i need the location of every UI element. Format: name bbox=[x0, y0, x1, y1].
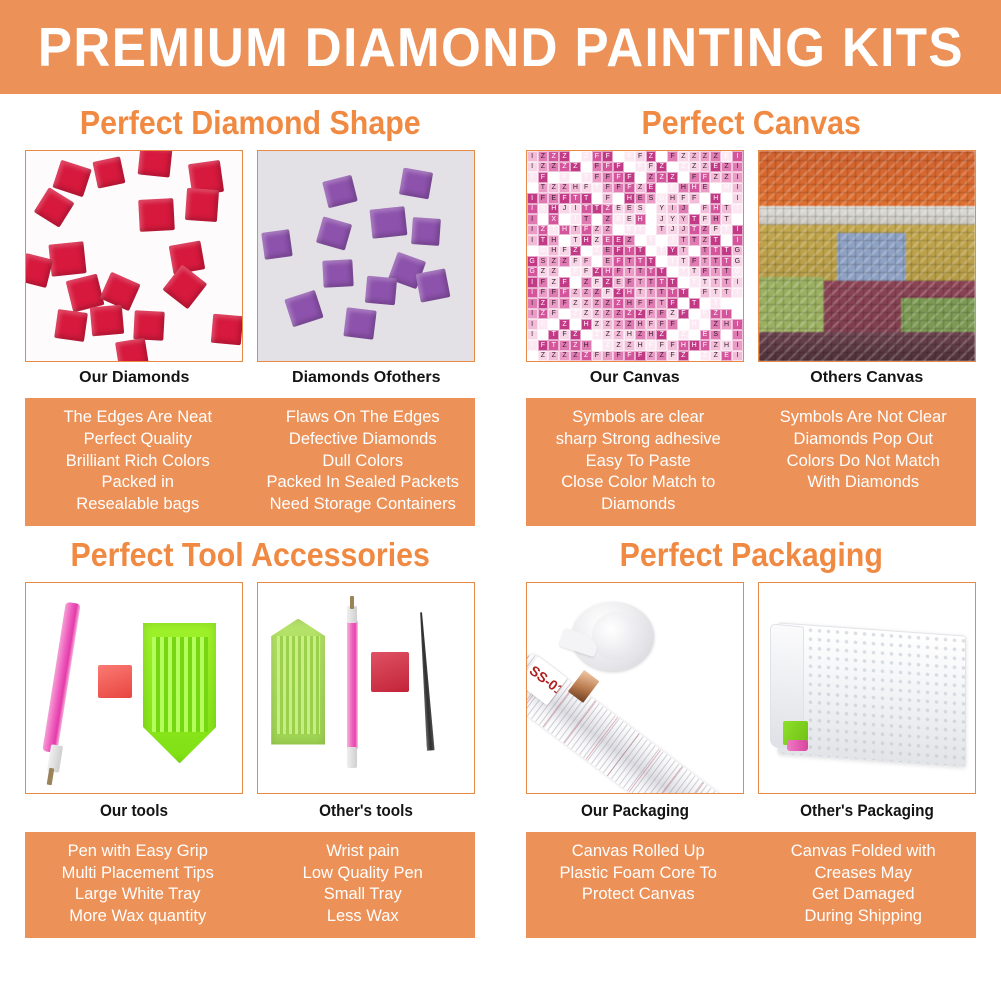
canvas-symbol-cell: T bbox=[678, 267, 689, 278]
canvas-symbol-cell: H bbox=[721, 183, 732, 194]
canvas-symbol-cell: F bbox=[613, 256, 624, 267]
canvas-symbol-cell: H bbox=[678, 183, 689, 194]
canvas-symbol-cell: G bbox=[527, 267, 538, 278]
canvas-symbol-cell: T bbox=[700, 256, 711, 267]
canvas-symbol-cell: I bbox=[732, 172, 743, 183]
image-our-tools bbox=[25, 582, 243, 794]
image-pair: IZZZZZFFFFFZZFZZZZEIIZZZZZFFFFFFZZZZZEZI… bbox=[501, 150, 1001, 362]
canvas-symbol-cell: Z bbox=[538, 225, 549, 236]
canvas-symbol-cell: F bbox=[667, 351, 678, 362]
canvas-symbol-cell: T bbox=[700, 277, 711, 288]
canvas-symbol-cell: Z bbox=[592, 298, 603, 309]
canvas-symbol-cell: G bbox=[538, 246, 549, 257]
feature-line: Wrist pain bbox=[253, 841, 472, 863]
canvas-symbol-cell: T bbox=[689, 267, 700, 278]
canvas-symbol-cell: Z bbox=[732, 309, 743, 320]
canvas-symbol-cell: E bbox=[700, 330, 711, 341]
canvas-symbol-cell: T bbox=[689, 214, 700, 225]
feature-line: Large White Tray bbox=[28, 884, 247, 906]
canvas-symbol-cell: H bbox=[624, 288, 635, 299]
canvas-symbol-cell: T bbox=[646, 235, 657, 246]
caption-other-packaging: Other's Packaging bbox=[769, 801, 965, 821]
canvas-symbol-cell: Z bbox=[538, 151, 549, 162]
canvas-symbol-cell: T bbox=[689, 288, 700, 299]
canvas-symbol-cell: E bbox=[613, 214, 624, 225]
canvas-symbol-cell: T bbox=[592, 204, 603, 215]
section-tool-accessories: Perfect Tool Accessories bbox=[0, 526, 501, 938]
caption-other-tools: Other's tools bbox=[268, 801, 464, 821]
feature-col-ours: The Edges Are NeatPerfect QualityBrillia… bbox=[25, 407, 250, 516]
canvas-symbol-cell: Z bbox=[602, 309, 613, 320]
canvas-symbol-cell: Z bbox=[592, 256, 603, 267]
canvas-symbol-cell: T bbox=[592, 193, 603, 204]
canvas-symbol-cell: T bbox=[656, 267, 667, 278]
canvas-symbol-cell: E bbox=[710, 162, 721, 173]
canvas-symbol-cell: H bbox=[710, 204, 721, 215]
canvas-symbol-cell: F bbox=[700, 214, 711, 225]
canvas-symbol-cell: I bbox=[732, 330, 743, 341]
canvas-symbol-cell: T bbox=[678, 246, 689, 257]
feature-line: Defective Diamonds bbox=[253, 429, 472, 451]
canvas-symbol-cell: Z bbox=[656, 351, 667, 362]
canvas-symbol-cell: T bbox=[689, 204, 700, 215]
feature-line: Symbols Are Not Clear bbox=[754, 407, 973, 429]
canvas-symbol-cell: H bbox=[721, 193, 732, 204]
canvas-symbol-cell: T bbox=[721, 235, 732, 246]
section-title: Perfect Diamond Shape bbox=[20, 94, 480, 150]
canvas-symbol-cell: G bbox=[656, 193, 667, 204]
canvas-symbol-cell: I bbox=[732, 151, 743, 162]
canvas-symbol-cell: I bbox=[559, 214, 570, 225]
feature-line: With Diamonds bbox=[754, 472, 973, 494]
canvas-symbol-cell: G bbox=[732, 256, 743, 267]
feature-line: Creases May bbox=[754, 863, 973, 885]
canvas-symbol-cell: Z bbox=[646, 172, 657, 183]
canvas-symbol-cell: H bbox=[689, 246, 700, 257]
canvas-symbol-cell: T bbox=[689, 225, 700, 236]
canvas-symbol-cell: Z bbox=[624, 340, 635, 351]
canvas-symbol-cell: Z bbox=[624, 319, 635, 330]
canvas-symbol-cell: F bbox=[538, 277, 549, 288]
feature-line: Canvas Folded with bbox=[754, 841, 973, 863]
canvas-symbol-cell: T bbox=[721, 288, 732, 299]
canvas-symbol-cell: I bbox=[527, 204, 538, 215]
canvas-symbol-cell: J bbox=[656, 235, 667, 246]
feature-line: Low Quality Pen bbox=[253, 863, 472, 885]
feature-line: Dull Colors bbox=[253, 451, 472, 473]
canvas-symbol-cell: H bbox=[624, 330, 635, 341]
feature-panel-packaging: Canvas Rolled UpPlastic Foam Core ToProt… bbox=[526, 832, 976, 938]
feature-line: Brilliant Rich Colors bbox=[28, 451, 247, 473]
canvas-symbol-cell: F bbox=[538, 288, 549, 299]
canvas-symbol-cell: Z bbox=[678, 172, 689, 183]
canvas-symbol-cell: T bbox=[710, 298, 721, 309]
canvas-symbol-cell: H bbox=[710, 193, 721, 204]
canvas-symbol-cell: T bbox=[570, 193, 581, 204]
canvas-symbol-cell: T bbox=[646, 256, 657, 267]
image-pair bbox=[0, 150, 501, 362]
canvas-symbol-cell: F bbox=[559, 267, 570, 278]
canvas-symbol-cell: H bbox=[678, 319, 689, 330]
canvas-symbol-cell: Z bbox=[689, 151, 700, 162]
feature-line: Colors Do Not Match bbox=[754, 451, 973, 473]
feature-line: Pen with Easy Grip bbox=[28, 841, 247, 863]
canvas-symbol-cell: Z bbox=[602, 225, 613, 236]
canvas-symbol-cell: I bbox=[527, 298, 538, 309]
section-title: Perfect Tool Accessories bbox=[20, 526, 480, 582]
canvas-symbol-cell: Z bbox=[559, 340, 570, 351]
canvas-symbol-cell: T bbox=[581, 214, 592, 225]
feature-col-ours: Pen with Easy GripMulti Placement TipsLa… bbox=[25, 841, 250, 928]
canvas-symbol-cell: Z bbox=[592, 309, 603, 320]
canvas-symbol-cell: Z bbox=[602, 277, 613, 288]
canvas-symbol-cell: F bbox=[559, 298, 570, 309]
canvas-symbol-cell: Z bbox=[592, 340, 603, 351]
canvas-symbol-cell: Z bbox=[710, 309, 721, 320]
image-our-diamonds bbox=[25, 150, 243, 362]
our-tools-photo bbox=[26, 583, 242, 793]
canvas-symbol-cell: F bbox=[581, 183, 592, 194]
canvas-symbol-cell: F bbox=[700, 172, 711, 183]
feature-panel-diamond-shape: The Edges Are NeatPerfect QualityBrillia… bbox=[25, 398, 475, 526]
canvas-symbol-cell: E bbox=[721, 351, 732, 362]
canvas-symbol-cell: E bbox=[635, 193, 646, 204]
symbol-canvas-grid: IZZZZZFFFFFZZFZZZZEIIZZZZZFFFFFFZZZZZEZI… bbox=[527, 151, 743, 361]
canvas-symbol-cell: Z bbox=[635, 309, 646, 320]
canvas-symbol-cell: Z bbox=[678, 151, 689, 162]
feature-line: Symbols are clear bbox=[529, 407, 748, 429]
canvas-symbol-cell: F bbox=[689, 193, 700, 204]
caption-our-canvas: Our Canvas bbox=[526, 369, 744, 387]
purple-diamonds-photo bbox=[258, 151, 474, 361]
canvas-symbol-cell: T bbox=[710, 246, 721, 257]
canvas-symbol-cell: H bbox=[548, 246, 559, 257]
canvas-symbol-cell: F bbox=[667, 151, 678, 162]
canvas-symbol-cell: I bbox=[732, 277, 743, 288]
canvas-symbol-cell: F bbox=[635, 151, 646, 162]
canvas-symbol-cell: Z bbox=[538, 298, 549, 309]
canvas-symbol-cell: T bbox=[581, 193, 592, 204]
canvas-symbol-cell: F bbox=[624, 172, 635, 183]
canvas-symbol-cell: F bbox=[710, 225, 721, 236]
canvas-symbol-cell: F bbox=[700, 267, 711, 278]
caption-others-canvas: Others Canvas bbox=[758, 369, 976, 387]
section-packaging: Perfect Packaging SS-011 bbox=[501, 526, 1001, 938]
image-other-tools bbox=[257, 582, 475, 794]
caption-pair: Our Packaging Other's Packaging bbox=[501, 801, 1001, 821]
canvas-symbol-cell: Z bbox=[646, 151, 657, 162]
feature-line: Diamonds Pop Out bbox=[754, 429, 973, 451]
canvas-symbol-cell: H bbox=[635, 319, 646, 330]
canvas-symbol-cell: Z bbox=[548, 256, 559, 267]
section-row-2: Perfect Tool Accessories bbox=[0, 526, 1001, 938]
canvas-symbol-cell: Z bbox=[581, 298, 592, 309]
canvas-symbol-cell: I bbox=[527, 309, 538, 320]
canvas-symbol-cell: H bbox=[635, 340, 646, 351]
canvas-symbol-cell: I bbox=[732, 183, 743, 194]
canvas-symbol-cell: S bbox=[710, 330, 721, 341]
canvas-symbol-cell: Z bbox=[602, 298, 613, 309]
canvas-symbol-cell: Z bbox=[646, 351, 657, 362]
canvas-symbol-cell: F bbox=[613, 183, 624, 194]
canvas-symbol-cell: Z bbox=[613, 288, 624, 299]
canvas-symbol-cell: I bbox=[732, 298, 743, 309]
feature-line: Need Storage Containers bbox=[253, 494, 472, 516]
canvas-symbol-cell: H bbox=[624, 298, 635, 309]
canvas-symbol-cell: J bbox=[656, 214, 667, 225]
canvas-symbol-cell: I bbox=[732, 340, 743, 351]
canvas-symbol-cell: I bbox=[527, 319, 538, 330]
canvas-symbol-cell: T bbox=[646, 246, 657, 257]
canvas-symbol-cell: Z bbox=[559, 183, 570, 194]
canvas-symbol-cell: T bbox=[678, 235, 689, 246]
canvas-symbol-cell: Z bbox=[592, 246, 603, 257]
canvas-symbol-cell: Z bbox=[581, 351, 592, 362]
canvas-symbol-cell: T bbox=[581, 172, 592, 183]
canvas-symbol-cell: F bbox=[613, 351, 624, 362]
canvas-symbol-cell: Z bbox=[656, 151, 667, 162]
canvas-symbol-cell: H bbox=[667, 193, 678, 204]
canvas-symbol-cell: F bbox=[656, 309, 667, 320]
canvas-symbol-cell: H bbox=[646, 204, 657, 215]
canvas-symbol-cell: Z bbox=[559, 256, 570, 267]
canvas-symbol-cell: E bbox=[602, 256, 613, 267]
canvas-symbol-cell: S bbox=[559, 235, 570, 246]
canvas-symbol-cell: J bbox=[678, 204, 689, 215]
canvas-symbol-cell: T bbox=[656, 277, 667, 288]
canvas-symbol-cell: T bbox=[678, 256, 689, 267]
canvas-symbol-cell: T bbox=[624, 246, 635, 257]
canvas-symbol-cell: Z bbox=[667, 162, 678, 173]
canvas-symbol-cell: F bbox=[700, 204, 711, 215]
canvas-symbol-cell: E bbox=[624, 225, 635, 236]
canvas-symbol-cell: I bbox=[527, 183, 538, 194]
canvas-symbol-cell: Z bbox=[592, 267, 603, 278]
feature-panel-tools: Pen with Easy GripMulti Placement TipsLa… bbox=[25, 832, 475, 938]
feature-line: Close Color Match to bbox=[529, 472, 748, 494]
canvas-symbol-cell: I bbox=[732, 288, 743, 299]
canvas-symbol-cell: S bbox=[538, 256, 549, 267]
feature-line: Perfect Quality bbox=[28, 429, 247, 451]
canvas-symbol-cell: Z bbox=[538, 162, 549, 173]
canvas-symbol-cell: E bbox=[721, 330, 732, 341]
canvas-symbol-cell: E bbox=[613, 225, 624, 236]
image-our-canvas: IZZZZZFFFFFZZFZZZZEIIZZZZZFFFFFFZZZZZEZI… bbox=[526, 150, 744, 362]
canvas-symbol-cell: H bbox=[721, 340, 732, 351]
canvas-symbol-cell: E bbox=[656, 183, 667, 194]
canvas-symbol-cell: Z bbox=[656, 330, 667, 341]
canvas-symbol-cell: T bbox=[570, 172, 581, 183]
canvas-symbol-cell: F bbox=[602, 151, 613, 162]
canvas-symbol-cell: F bbox=[624, 277, 635, 288]
canvas-symbol-cell: Z bbox=[570, 309, 581, 320]
canvas-symbol-cell: T bbox=[635, 225, 646, 236]
feature-line: Diamonds bbox=[529, 494, 748, 516]
canvas-symbol-cell: Z bbox=[570, 151, 581, 162]
canvas-symbol-cell: Z bbox=[548, 277, 559, 288]
canvas-symbol-cell: I bbox=[732, 351, 743, 362]
canvas-symbol-cell: T bbox=[635, 277, 646, 288]
canvas-symbol-cell: E bbox=[667, 183, 678, 194]
canvas-symbol-cell: I bbox=[527, 351, 538, 362]
canvas-symbol-cell: Z bbox=[613, 193, 624, 204]
canvas-symbol-cell: T bbox=[592, 183, 603, 194]
canvas-symbol-cell: H bbox=[721, 319, 732, 330]
canvas-symbol-cell: J bbox=[667, 235, 678, 246]
feature-line: More Wax quantity bbox=[28, 906, 247, 928]
canvas-symbol-cell: Z bbox=[548, 162, 559, 173]
canvas-symbol-cell: I bbox=[527, 235, 538, 246]
canvas-symbol-cell: F bbox=[592, 162, 603, 173]
canvas-symbol-cell: Z bbox=[581, 288, 592, 299]
canvas-symbol-cell: Z bbox=[613, 298, 624, 309]
canvas-symbol-cell: Z bbox=[678, 330, 689, 341]
canvas-symbol-cell: T bbox=[570, 235, 581, 246]
canvas-symbol-cell: I bbox=[527, 172, 538, 183]
feature-col-ours: Canvas Rolled UpPlastic Foam Core ToProt… bbox=[526, 841, 751, 928]
feature-line: Canvas Rolled Up bbox=[529, 841, 748, 863]
canvas-symbol-cell: G bbox=[732, 246, 743, 257]
feature-line: Packed in bbox=[28, 472, 247, 494]
canvas-symbol-cell: E bbox=[624, 204, 635, 215]
feature-line: Small Tray bbox=[253, 884, 472, 906]
canvas-symbol-cell: T bbox=[710, 277, 721, 288]
canvas-symbol-cell: F bbox=[548, 288, 559, 299]
canvas-symbol-cell: F bbox=[548, 298, 559, 309]
canvas-symbol-cell: F bbox=[624, 351, 635, 362]
canvas-symbol-cell: I bbox=[527, 162, 538, 173]
canvas-symbol-cell: S bbox=[538, 204, 549, 215]
canvas-symbol-cell: T bbox=[656, 298, 667, 309]
image-others-canvas bbox=[758, 150, 976, 362]
canvas-symbol-cell: I bbox=[527, 330, 538, 341]
feature-line: Flaws On The Edges bbox=[253, 407, 472, 429]
canvas-symbol-cell: F bbox=[689, 256, 700, 267]
canvas-symbol-cell: E bbox=[602, 235, 613, 246]
canvas-symbol-cell: Z bbox=[602, 319, 613, 330]
canvas-symbol-cell: E bbox=[646, 183, 657, 194]
canvas-symbol-cell: F bbox=[602, 162, 613, 173]
canvas-symbol-cell: Z bbox=[689, 162, 700, 173]
canvas-symbol-cell: Z bbox=[548, 351, 559, 362]
section-diamond-shape: Perfect Diamond Shape bbox=[0, 94, 501, 526]
feature-line: Easy To Paste bbox=[529, 451, 748, 473]
canvas-symbol-cell: T bbox=[635, 256, 646, 267]
canvas-symbol-cell: I bbox=[527, 225, 538, 236]
feature-panel-canvas: Symbols are clearsharp Strong adhesiveEa… bbox=[526, 398, 976, 526]
canvas-symbol-cell: T bbox=[721, 204, 732, 215]
canvas-symbol-cell: Z bbox=[710, 172, 721, 183]
canvas-symbol-cell: I bbox=[667, 204, 678, 215]
canvas-symbol-cell: Z bbox=[721, 298, 732, 309]
canvas-symbol-cell: Z bbox=[559, 351, 570, 362]
canvas-symbol-cell: T bbox=[678, 277, 689, 288]
caption-our-diamonds: Our Diamonds bbox=[25, 369, 243, 387]
canvas-symbol-cell: F bbox=[667, 340, 678, 351]
canvas-symbol-cell: H bbox=[624, 193, 635, 204]
canvas-symbol-cell: T bbox=[656, 256, 667, 267]
canvas-symbol-cell: Z bbox=[613, 319, 624, 330]
canvas-symbol-cell: Z bbox=[656, 172, 667, 183]
canvas-symbol-cell: T bbox=[700, 298, 711, 309]
canvas-symbol-cell: F bbox=[635, 351, 646, 362]
canvas-symbol-cell: H bbox=[689, 340, 700, 351]
canvas-symbol-cell: Y bbox=[667, 246, 678, 257]
canvas-symbol-cell: F bbox=[592, 172, 603, 183]
canvas-symbol-cell: Z bbox=[570, 162, 581, 173]
canvas-symbol-cell: T bbox=[635, 267, 646, 278]
canvas-symbol-cell: J bbox=[559, 204, 570, 215]
canvas-symbol-cell: E bbox=[613, 235, 624, 246]
canvas-symbol-cell: T bbox=[667, 267, 678, 278]
image-other-packaging bbox=[758, 582, 976, 794]
canvas-symbol-cell: Z bbox=[635, 183, 646, 194]
canvas-symbol-cell: T bbox=[635, 235, 646, 246]
canvas-symbol-cell: F bbox=[700, 340, 711, 351]
canvas-symbol-cell: T bbox=[710, 267, 721, 278]
canvas-symbol-cell: T bbox=[656, 225, 667, 236]
canvas-symbol-cell: T bbox=[689, 298, 700, 309]
canvas-symbol-cell: Z bbox=[710, 351, 721, 362]
feature-line: Get Damaged bbox=[754, 884, 973, 906]
feature-col-others: Canvas Folded withCreases MayGet Damaged… bbox=[751, 841, 976, 928]
canvas-symbol-cell: H bbox=[602, 267, 613, 278]
canvas-symbol-cell: T bbox=[656, 288, 667, 299]
canvas-symbol-cell: F bbox=[700, 309, 711, 320]
canvas-symbol-cell: Z bbox=[538, 351, 549, 362]
canvas-symbol-cell: F bbox=[624, 162, 635, 173]
canvas-symbol-cell: F bbox=[559, 330, 570, 341]
canvas-symbol-cell: Z bbox=[548, 183, 559, 194]
canvas-symbol-cell: H bbox=[548, 204, 559, 215]
feature-line: Plastic Foam Core To bbox=[529, 863, 748, 885]
canvas-symbol-cell: F bbox=[592, 151, 603, 162]
caption-pair: Our Diamonds Diamonds Ofothers bbox=[0, 369, 501, 387]
canvas-symbol-cell: I bbox=[527, 193, 538, 204]
canvas-symbol-cell: F bbox=[592, 277, 603, 288]
canvas-symbol-cell: T bbox=[656, 246, 667, 257]
canvas-symbol-cell: H bbox=[581, 340, 592, 351]
caption-others-diamonds: Diamonds Ofothers bbox=[257, 369, 475, 387]
feature-line: sharp Strong adhesive bbox=[529, 429, 748, 451]
canvas-symbol-cell: T bbox=[538, 235, 549, 246]
canvas-symbol-cell: I bbox=[732, 193, 743, 204]
feature-line: Protect Canvas bbox=[529, 884, 748, 906]
canvas-symbol-cell: Z bbox=[721, 172, 732, 183]
caption-pair: Our tools Other's tools bbox=[0, 801, 501, 821]
canvas-symbol-cell: F bbox=[667, 298, 678, 309]
canvas-symbol-cell: T bbox=[548, 225, 559, 236]
canvas-symbol-cell: Z bbox=[581, 151, 592, 162]
canvas-symbol-cell: G bbox=[527, 256, 538, 267]
canvas-symbol-cell: I bbox=[527, 151, 538, 162]
canvas-symbol-cell: Z bbox=[581, 162, 592, 173]
section-title: Perfect Packaging bbox=[521, 526, 981, 582]
canvas-symbol-cell: Y bbox=[667, 214, 678, 225]
canvas-symbol-cell: T bbox=[581, 204, 592, 215]
canvas-symbol-cell: F bbox=[581, 225, 592, 236]
caption-our-tools: Our tools bbox=[36, 801, 232, 821]
section-canvas: Perfect Canvas IZZZZZFFFFFZZFZZZZEIIZZZZ… bbox=[501, 94, 1001, 526]
canvas-symbol-cell: I bbox=[732, 225, 743, 236]
canvas-symbol-cell: F bbox=[538, 340, 549, 351]
canvas-symbol-cell: Z bbox=[635, 330, 646, 341]
canvas-symbol-cell: I bbox=[732, 214, 743, 225]
canvas-symbol-cell: F bbox=[700, 288, 711, 299]
canvas-symbol-cell: F bbox=[613, 151, 624, 162]
page-header: PREMIUM DIAMOND PAINTING KITS bbox=[0, 0, 1001, 94]
canvas-symbol-cell: Z bbox=[602, 340, 613, 351]
